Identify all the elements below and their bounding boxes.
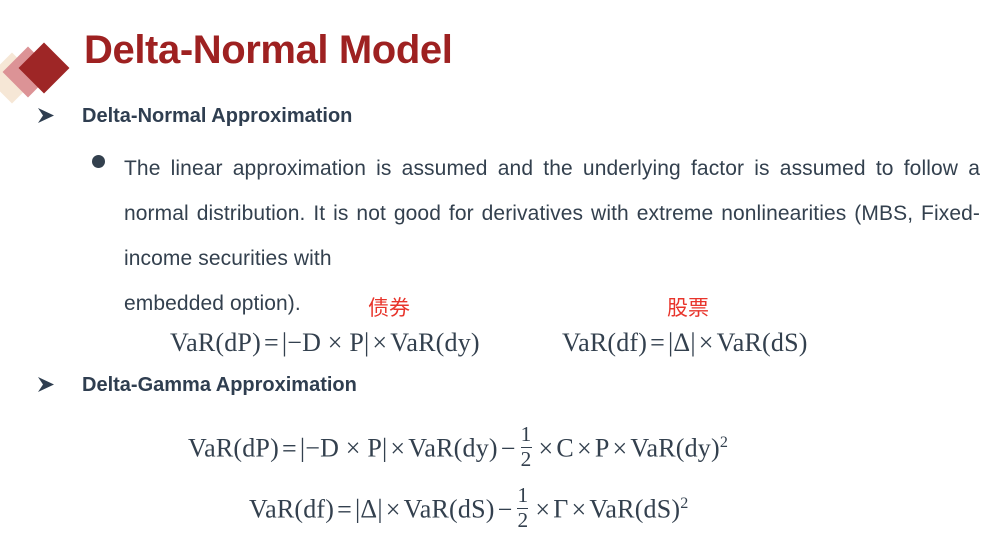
formula-times-4: × xyxy=(609,434,630,463)
slide-header: Delta-Normal Model xyxy=(0,22,1005,94)
formula-minus: − xyxy=(498,434,519,463)
formula-price-factor: P xyxy=(595,434,610,463)
section-heading-label: Delta-Gamma Approximation xyxy=(82,371,357,399)
page-title: Delta-Normal Model xyxy=(84,22,452,78)
formula-lhs: VaR(df) xyxy=(249,495,334,524)
formula-rhs: VaR(dS) xyxy=(404,495,495,524)
formula-fraction-one-half: 12 xyxy=(521,424,532,471)
annotation-bond: 债券 xyxy=(368,295,410,321)
formula-times: × xyxy=(369,328,390,357)
formula-lhs: VaR(df) xyxy=(562,328,647,357)
formula-abs-term: |−D × P| xyxy=(282,328,370,357)
formula-lhs: VaR(dP) xyxy=(170,328,261,357)
formula-times-3: × xyxy=(574,434,595,463)
fraction-numerator: 1 xyxy=(521,424,532,446)
fraction-numerator: 1 xyxy=(517,485,528,507)
formula-lhs: VaR(dP) xyxy=(188,434,279,463)
annotation-stock: 股票 xyxy=(667,295,709,321)
formula-gamma-symbol: Γ xyxy=(553,495,568,524)
formula-abs-term: |Δ| xyxy=(668,328,696,357)
formula-times: × xyxy=(696,328,717,357)
section-heading-delta-gamma: Delta-Gamma Approximation xyxy=(34,371,934,401)
formula-squared-term: VaR(dS) xyxy=(589,495,680,524)
section-heading-label: Delta-Normal Approximation xyxy=(82,102,352,130)
formula-delta-normal-bond: VaR(dP)=|−D × P|×VaR(dy) xyxy=(170,326,480,360)
formula-rhs: VaR(dS) xyxy=(717,328,808,357)
formula-minus: − xyxy=(495,495,516,524)
formula-squared-term: VaR(dy) xyxy=(630,434,720,463)
formula-times: × xyxy=(387,434,408,463)
formula-equals: = xyxy=(261,328,282,357)
formula-times-3: × xyxy=(568,495,589,524)
formula-times-2: × xyxy=(536,434,557,463)
round-bullet-icon xyxy=(92,155,105,168)
formula-convexity-symbol: C xyxy=(556,434,574,463)
arrow-right-bullet-icon xyxy=(34,104,58,128)
diamond-decoration-group xyxy=(0,50,74,106)
formula-abs-term: |−D × P| xyxy=(300,434,388,463)
body-paragraph-last-line: embedded option). xyxy=(124,281,980,326)
formula-equals: = xyxy=(647,328,668,357)
body-paragraph-main: The linear approximation is assumed and … xyxy=(124,157,980,270)
formula-delta-gamma-bond: VaR(dP)=|−D × P|×VaR(dy)−12×C×P×VaR(dy)2 xyxy=(188,424,728,471)
body-bullet-item: The linear approximation is assumed and … xyxy=(90,146,980,326)
formula-abs-term: |Δ| xyxy=(355,495,383,524)
formula-delta-gamma-stock: VaR(df)=|Δ|×VaR(dS)−12×Γ×VaR(dS)2 xyxy=(249,485,689,532)
arrow-right-bullet-icon xyxy=(34,373,58,397)
body-paragraph: The linear approximation is assumed and … xyxy=(90,146,980,326)
formula-times: × xyxy=(383,495,404,524)
formula-times-2: × xyxy=(532,495,553,524)
formula-equals: = xyxy=(334,495,355,524)
formula-exponent: 2 xyxy=(680,495,688,512)
fraction-denominator: 2 xyxy=(517,510,528,532)
formula-rhs: VaR(dy) xyxy=(408,434,498,463)
section-heading-delta-normal: Delta-Normal Approximation xyxy=(34,102,934,132)
formula-exponent: 2 xyxy=(720,434,728,451)
formula-delta-normal-stock: VaR(df)=|Δ|×VaR(dS) xyxy=(562,326,808,360)
fraction-denominator: 2 xyxy=(521,449,532,471)
formula-fraction-one-half: 12 xyxy=(517,485,528,532)
formula-equals: = xyxy=(279,434,300,463)
formula-rhs: VaR(dy) xyxy=(390,328,480,357)
